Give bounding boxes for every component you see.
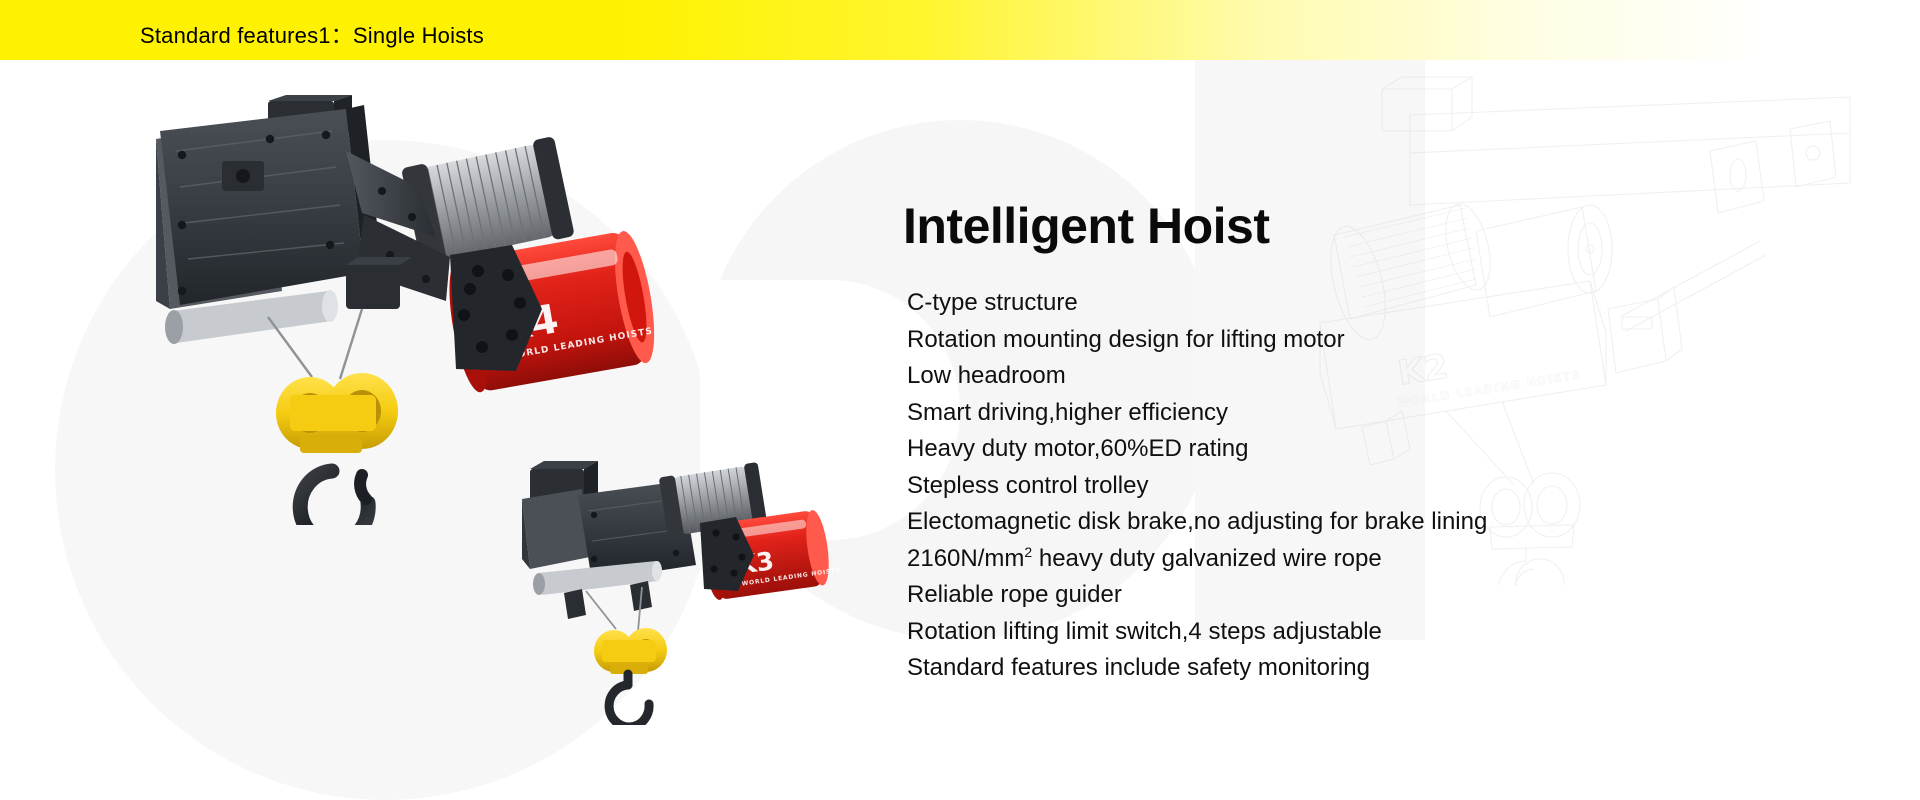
feature-item-4: Heavy duty motor,60%ED rating xyxy=(907,431,1647,468)
wire-rope-prefix: 2160N/mm xyxy=(907,545,1024,572)
header-banner: Standard features1：Single Hoists xyxy=(0,0,1920,60)
feature-item-0: C-type structure xyxy=(907,285,1647,322)
feature-item-3: Smart driving,higher efficiency xyxy=(907,395,1647,432)
feature-item-5: Stepless control trolley xyxy=(907,468,1647,505)
feature-item-2: Low headroom xyxy=(907,358,1647,395)
page-title: Intelligent Hoist xyxy=(903,197,1270,255)
feature-item-1: Rotation mounting design for lifting mot… xyxy=(907,322,1647,359)
feature-list: C-type structure Rotation mounting desig… xyxy=(907,285,1647,687)
feature-item-6: Electomagnetic disk brake,no adjusting f… xyxy=(907,504,1647,541)
banner-title: Standard features1：Single Hoists xyxy=(140,18,484,50)
slide-canvas: K2 WORLD LEADING HOISTS xyxy=(0,0,1920,800)
feature-item-9: Standard features include safety monitor… xyxy=(907,650,1647,687)
feature-item-wire-rope: 2160N/mm2 heavy duty galvanized wire rop… xyxy=(907,541,1647,578)
product-image-small-hoist: K3 WORLD LEADING HOISTS xyxy=(520,455,860,725)
feature-item-7: Reliable rope guider xyxy=(907,577,1647,614)
wire-rope-suffix: heavy duty galvanized wire rope xyxy=(1032,545,1382,572)
feature-item-8: Rotation lifting limit switch,4 steps ad… xyxy=(907,614,1647,651)
wire-rope-superscript: 2 xyxy=(1024,544,1032,560)
